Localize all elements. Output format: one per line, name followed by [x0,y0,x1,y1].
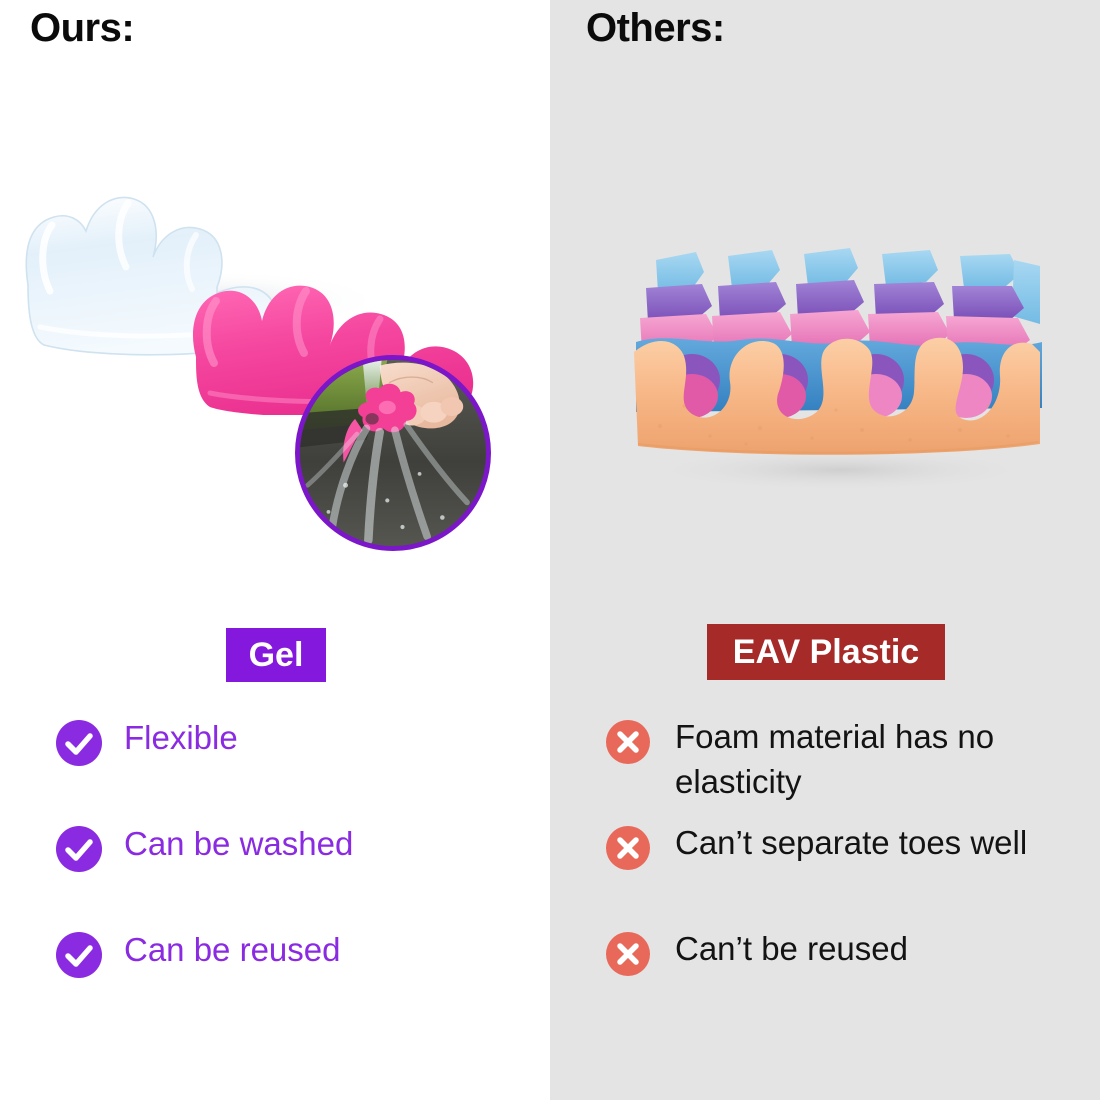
list-item-label: Can’t separate toes well [675,820,1027,865]
material-badge-eav-plastic: EAV Plastic [707,624,945,680]
list-item: Can be washed [56,824,353,872]
washing-demo-photo [295,355,491,551]
list-item-label: Can be washed [124,821,353,866]
foam-separator-product-image [600,230,1070,500]
list-item-label: Can’t be reused [675,926,908,971]
check-circle-icon [56,720,102,766]
check-circle-icon [56,826,102,872]
material-badge-gel: Gel [226,628,326,682]
cross-circle-icon [606,720,650,764]
cross-circle-icon [606,826,650,870]
product-comparison-infographic: Ours: [0,0,1100,1100]
list-item-label: Foam material has no elasticity [675,714,994,804]
list-item: Can be reused [56,930,340,978]
cross-circle-icon [606,932,650,976]
ours-panel: Ours: [0,0,550,1100]
ours-panel-title: Ours: [30,6,134,51]
foam-separator-illustration [600,230,1070,500]
check-circle-icon [56,932,102,978]
list-item: Can’t be reused [606,930,908,976]
list-item: Can’t separate toes well [606,824,1027,870]
list-item-label: Flexible [124,715,238,760]
list-item: Foam material has no elasticity [606,718,994,804]
list-item-label: Can be reused [124,927,340,972]
others-panel-title: Others: [586,6,725,51]
washing-demo-illustration [300,360,486,546]
list-item: Flexible [56,718,238,766]
